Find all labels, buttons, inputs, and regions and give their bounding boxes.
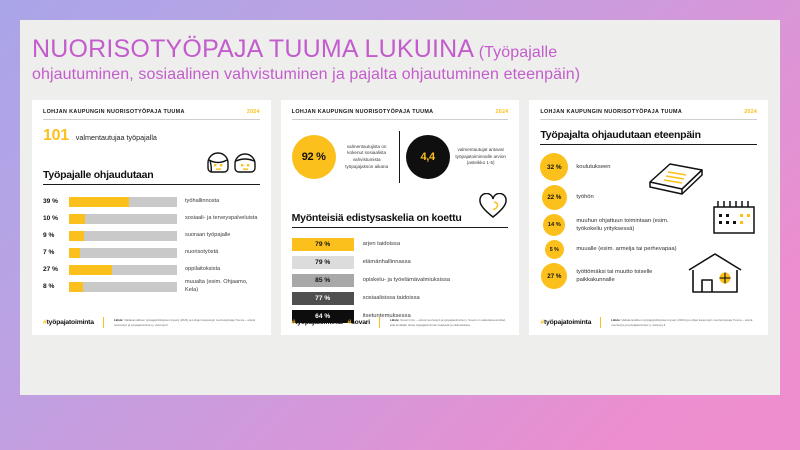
card-footer: #työpajatoiminta Lähde: Valtakunnallinen… bbox=[43, 317, 260, 328]
destination-circle: 14 % bbox=[543, 214, 565, 236]
section-title: Myönteisiä edistysaskelia on koettu bbox=[292, 212, 462, 224]
destination-list: 32 % koulutukseen 22 % työhön 14 % muuhu… bbox=[540, 153, 757, 289]
circle-stat-unit: 92 % valmentautujista on kokenut sosiaal… bbox=[292, 135, 393, 179]
circle-stat-unit: 4,4 valmentautujat antavat työpaja­toimi… bbox=[406, 135, 507, 179]
bar-row: 8 % muualta (esim. Ohjaamo, Kela) bbox=[43, 278, 260, 295]
destination-circle: 27 % bbox=[541, 263, 567, 289]
stat-circle-black: 4,4 bbox=[406, 135, 450, 179]
step-label: opiskelu- ja työelämävalmiuksissa bbox=[363, 277, 450, 283]
footer-divider bbox=[379, 317, 380, 328]
destination-circle: 32 % bbox=[540, 153, 568, 181]
bar-track bbox=[69, 197, 177, 207]
bar-fill bbox=[69, 231, 84, 241]
circle-caption: valmentautujat antavat työpaja­toiminnal… bbox=[455, 147, 507, 167]
destination-row: 27 % työttömäksi tai muutto toiselle pai… bbox=[540, 263, 757, 289]
bar-label: muualta (esim. Ohjaamo, Kela) bbox=[185, 279, 260, 294]
destination-circle: 22 % bbox=[542, 185, 567, 210]
bar-fill bbox=[69, 197, 129, 207]
hashtag-group: #työpajatoiminta bbox=[540, 319, 591, 326]
two-faces-icon bbox=[204, 150, 260, 181]
hashtag-text: työpajatoiminta bbox=[544, 319, 591, 326]
card-sosiaalinen-vahvistuminen: LOHJAN KAUPUNGIN NUORISOTYÖPAJA TUUMA 20… bbox=[281, 100, 520, 335]
destination-label: muualle (esim. armeija tai perhevapaa) bbox=[576, 245, 676, 253]
bar-row: 39 % työhallinnosta bbox=[43, 193, 260, 210]
bar-fill bbox=[69, 248, 80, 258]
bar-percent: 39 % bbox=[43, 198, 69, 205]
step-label: elämänhallinnassa bbox=[363, 259, 411, 265]
bar-label: sosiaali- ja terveyspalveluista bbox=[185, 215, 260, 223]
page-title: NUORISOTYÖPAJA TUUMA LUKUINA (Työpajalle… bbox=[32, 34, 772, 84]
destination-row: 14 % muuhun ohjattuun toimintaan (esim. … bbox=[540, 214, 757, 236]
bar-percent: 27 % bbox=[43, 266, 69, 273]
card-footer: #työpajatoiminta Lähde: Valtakunnallinen… bbox=[540, 317, 757, 328]
destination-label: muuhun ohjattuun toimintaan (esim. työko… bbox=[576, 217, 694, 233]
section-heading: Työpajalta ohjaudutaan eteenpäin bbox=[540, 129, 757, 145]
step-label: arjen taidoissa bbox=[363, 241, 400, 247]
card-footer: #työpajatoiminta #sovari Lähde: Sovari (… bbox=[292, 317, 509, 328]
footer-divider bbox=[103, 317, 104, 328]
destination-label: koulutukseen bbox=[576, 163, 610, 171]
bar-track bbox=[69, 265, 177, 275]
bar-percent: 9 % bbox=[43, 232, 69, 239]
source-note: Lähde: Valtakunnallinen työpajayhdistyks… bbox=[611, 318, 757, 327]
card-brand: LOHJAN KAUPUNGIN NUORISOTYÖPAJA TUUMA bbox=[43, 109, 185, 115]
bar-row: 7 % nuorisotyöstä bbox=[43, 244, 260, 261]
content-panel: NUORISOTYÖPAJA TUUMA LUKUINA (Työpajalle… bbox=[20, 20, 780, 395]
footer-divider bbox=[600, 317, 601, 328]
card-year: 2024 bbox=[496, 109, 509, 115]
bar-label: nuorisotyöstä bbox=[185, 249, 260, 257]
headline-paren-start: (Työpajalle bbox=[479, 44, 557, 61]
section-heading: Työpajalle ohjaudutaan bbox=[43, 150, 260, 185]
step-row: 77 % sosiaalisissa taidoissa bbox=[292, 289, 509, 307]
step-row: 79 % elämänhallinnassa bbox=[292, 253, 509, 271]
step-chip: 79 % bbox=[292, 238, 354, 251]
progress-steps-list: 79 % arjen taidoissa 79 % elämänhallinna… bbox=[292, 235, 509, 325]
step-chip: 85 % bbox=[292, 274, 354, 287]
circle-value: 92 % bbox=[302, 151, 326, 163]
circle-caption: valmentautujista on kokenut sosiaalista … bbox=[341, 144, 393, 170]
section-title: Työpajalta ohjaudutaan eteenpäin bbox=[540, 129, 700, 141]
headline-stat: 101 valmentautujaa työpajalla bbox=[43, 127, 260, 145]
step-row: 79 % arjen taidoissa bbox=[292, 235, 509, 253]
card-year: 2024 bbox=[744, 109, 757, 115]
bar-fill bbox=[69, 214, 85, 224]
bar-row: 9 % suoraan työpajalle bbox=[43, 227, 260, 244]
card-header: LOHJAN KAUPUNGIN NUORISOTYÖPAJA TUUMA 20… bbox=[540, 109, 757, 120]
headline-main: NUORISOTYÖPAJA TUUMA LUKUINA bbox=[32, 35, 474, 63]
bar-track bbox=[69, 282, 177, 292]
bar-row: 27 % oppilaitoksista bbox=[43, 261, 260, 278]
bar-fill bbox=[69, 265, 112, 275]
source-text: Valtakunnallinen työpajayhdistyksen kyse… bbox=[611, 318, 752, 326]
card-year: 2024 bbox=[247, 109, 260, 115]
bar-label: oppilaitoksista bbox=[185, 266, 260, 274]
source-text: Valtakunnallinen työpajayhdistyksen kyse… bbox=[114, 318, 255, 326]
section-title: Työpajalle ohjaudutaan bbox=[43, 169, 153, 181]
bar-chart-sources: 39 % työhallinnosta 10 % sosiaali- ja te… bbox=[43, 193, 260, 295]
bar-label: työhallinnosta bbox=[185, 198, 260, 206]
bar-row: 10 % sosiaali- ja terveyspalveluista bbox=[43, 210, 260, 227]
bar-fill bbox=[69, 282, 83, 292]
step-chip: 79 % bbox=[292, 256, 354, 269]
destination-circle: 5 % bbox=[545, 240, 564, 259]
bar-percent: 7 % bbox=[43, 249, 69, 256]
hashtag-text: työpajatoiminta bbox=[47, 319, 94, 326]
card-ohjaudutaan-eteenpain: LOHJAN KAUPUNGIN NUORISOTYÖPAJA TUUMA 20… bbox=[529, 100, 768, 335]
hashtag: #työpajatoiminta bbox=[540, 319, 591, 326]
card-brand: LOHJAN KAUPUNGIN NUORISOTYÖPAJA TUUMA bbox=[540, 109, 682, 115]
step-label: sosiaalisissa taidoissa bbox=[363, 295, 420, 301]
card-tyopajalle-ohjaudutaan: LOHJAN KAUPUNGIN NUORISOTYÖPAJA TUUMA 20… bbox=[32, 100, 271, 335]
headline-sub: ohjautuminen, sosiaalinen vahvistuminen … bbox=[32, 65, 772, 85]
source-note: Lähde: Valtakunnallinen työpajayhdistyks… bbox=[114, 318, 260, 327]
hashtag-group: #työpajatoiminta #sovari bbox=[292, 319, 370, 326]
hashtag: #sovari bbox=[348, 319, 370, 326]
bar-track bbox=[69, 231, 177, 241]
source-text: Sovari (mtv. – etsivä nuorisotyö ja työp… bbox=[390, 318, 506, 326]
stat-number: 101 bbox=[43, 127, 69, 145]
step-chip: 77 % bbox=[292, 292, 354, 305]
circle-stats: 92 % valmentautujista on kokenut sosiaal… bbox=[292, 126, 509, 188]
hashtag: #työpajatoiminta bbox=[292, 319, 343, 326]
stat-circle-yellow: 92 % bbox=[292, 135, 336, 179]
bar-track bbox=[69, 214, 177, 224]
stat-description: valmentautujaa työpajalla bbox=[76, 133, 157, 142]
card-header: LOHJAN KAUPUNGIN NUORISOTYÖPAJA TUUMA 20… bbox=[292, 109, 509, 120]
source-note: Lähde: Sovari (mtv. – etsivä nuorisotyö … bbox=[390, 318, 508, 327]
section-heading: Myönteisiä edistysaskelia on koettu bbox=[292, 193, 509, 228]
hashtag-group: #työpajatoiminta bbox=[43, 319, 94, 326]
destination-row: 32 % koulutukseen bbox=[540, 153, 757, 181]
bar-track bbox=[69, 248, 177, 258]
destination-row: 5 % muualle (esim. armeija tai perhevapa… bbox=[540, 240, 757, 259]
hashtag: #työpajatoiminta bbox=[43, 319, 94, 326]
card-brand: LOHJAN KAUPUNGIN NUORISOTYÖPAJA TUUMA bbox=[292, 109, 434, 115]
circle-value: 4,4 bbox=[420, 151, 434, 163]
vertical-divider bbox=[399, 131, 400, 183]
destination-row: 22 % työhön bbox=[540, 185, 757, 210]
destination-label: työttömäksi tai muutto toiselle paikkaku… bbox=[576, 268, 686, 284]
bar-percent: 8 % bbox=[43, 283, 69, 290]
infographic-card-row: LOHJAN KAUPUNGIN NUORISOTYÖPAJA TUUMA 20… bbox=[32, 100, 768, 335]
heart-icon bbox=[478, 193, 508, 224]
hashtag-text: työpajatoiminta bbox=[295, 319, 342, 326]
bar-percent: 10 % bbox=[43, 215, 69, 222]
bar-label: suoraan työpajalle bbox=[185, 232, 260, 240]
destination-label: työhön bbox=[576, 193, 593, 201]
card-header: LOHJAN KAUPUNGIN NUORISOTYÖPAJA TUUMA 20… bbox=[43, 109, 260, 120]
step-row: 85 % opiskelu- ja työelämävalmiuksissa bbox=[292, 271, 509, 289]
hashtag-text: sovari bbox=[351, 319, 370, 326]
